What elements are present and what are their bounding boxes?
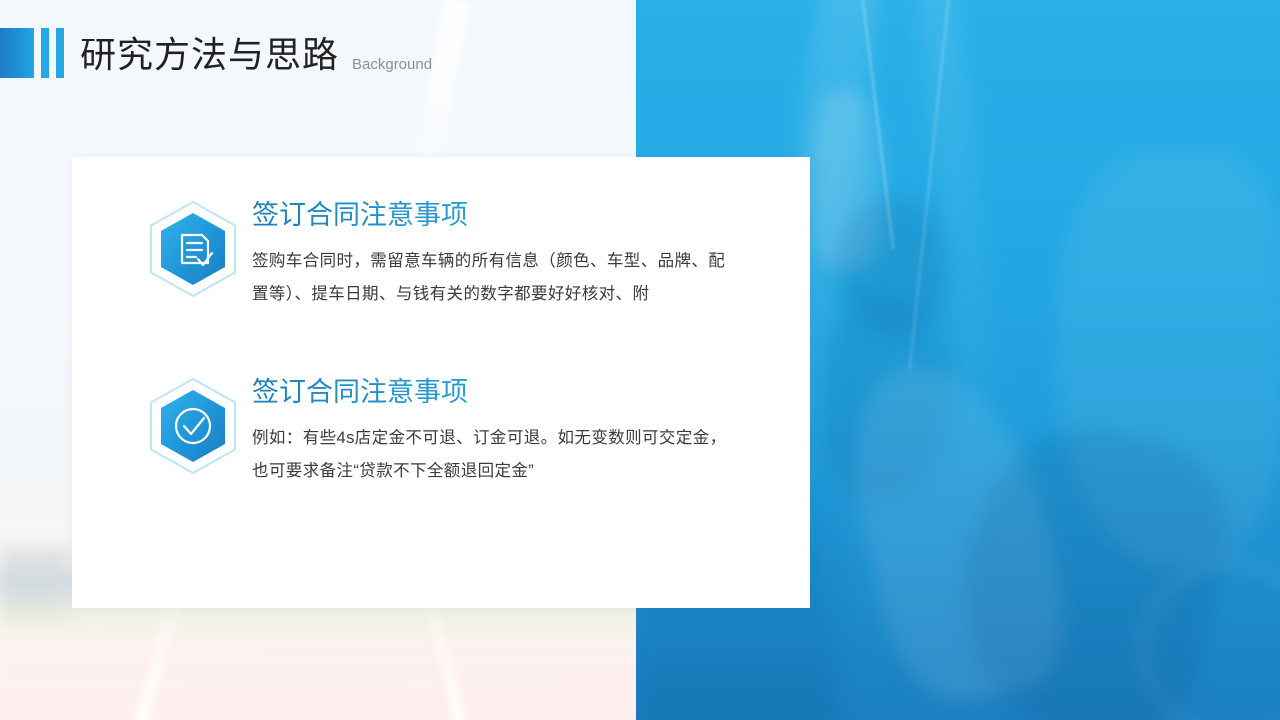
background-shape bbox=[0, 640, 640, 720]
accent-bar-small-1 bbox=[41, 28, 49, 78]
page-subtitle: Background bbox=[352, 56, 432, 73]
document-check-hexagon-icon bbox=[146, 199, 240, 299]
section-2-text: 签订合同注意事项 例如：有些4s店定金不可退、订金可退。如无变数则可交定金，也可… bbox=[252, 376, 752, 487]
page-title: 研究方法与思路 bbox=[80, 26, 339, 78]
background-shape bbox=[416, 0, 469, 161]
section-2-body: 例如：有些4s店定金不可退、订金可退。如无变数则可交定金，也可要求备注“贷款不下… bbox=[252, 422, 737, 486]
accent-bar-small-2 bbox=[56, 28, 64, 78]
section-2-title: 签订合同注意事项 bbox=[252, 376, 752, 408]
section-1-title: 签订合同注意事项 bbox=[252, 199, 752, 231]
accent-bar-large bbox=[0, 28, 34, 78]
presentation-slide: 研究方法与思路 Background bbox=[0, 0, 1280, 720]
circle-check-hexagon-icon bbox=[146, 376, 240, 476]
section-1-body: 签购车合同时，需留意车辆的所有信息（颜色、车型、品牌、配置等）、提车日期、与钱有… bbox=[252, 245, 737, 309]
content-card: 签订合同注意事项 签购车合同时，需留意车辆的所有信息（颜色、车型、品牌、配置等）… bbox=[72, 157, 810, 608]
section-1-text: 签订合同注意事项 签购车合同时，需留意车辆的所有信息（颜色、车型、品牌、配置等）… bbox=[252, 199, 752, 310]
